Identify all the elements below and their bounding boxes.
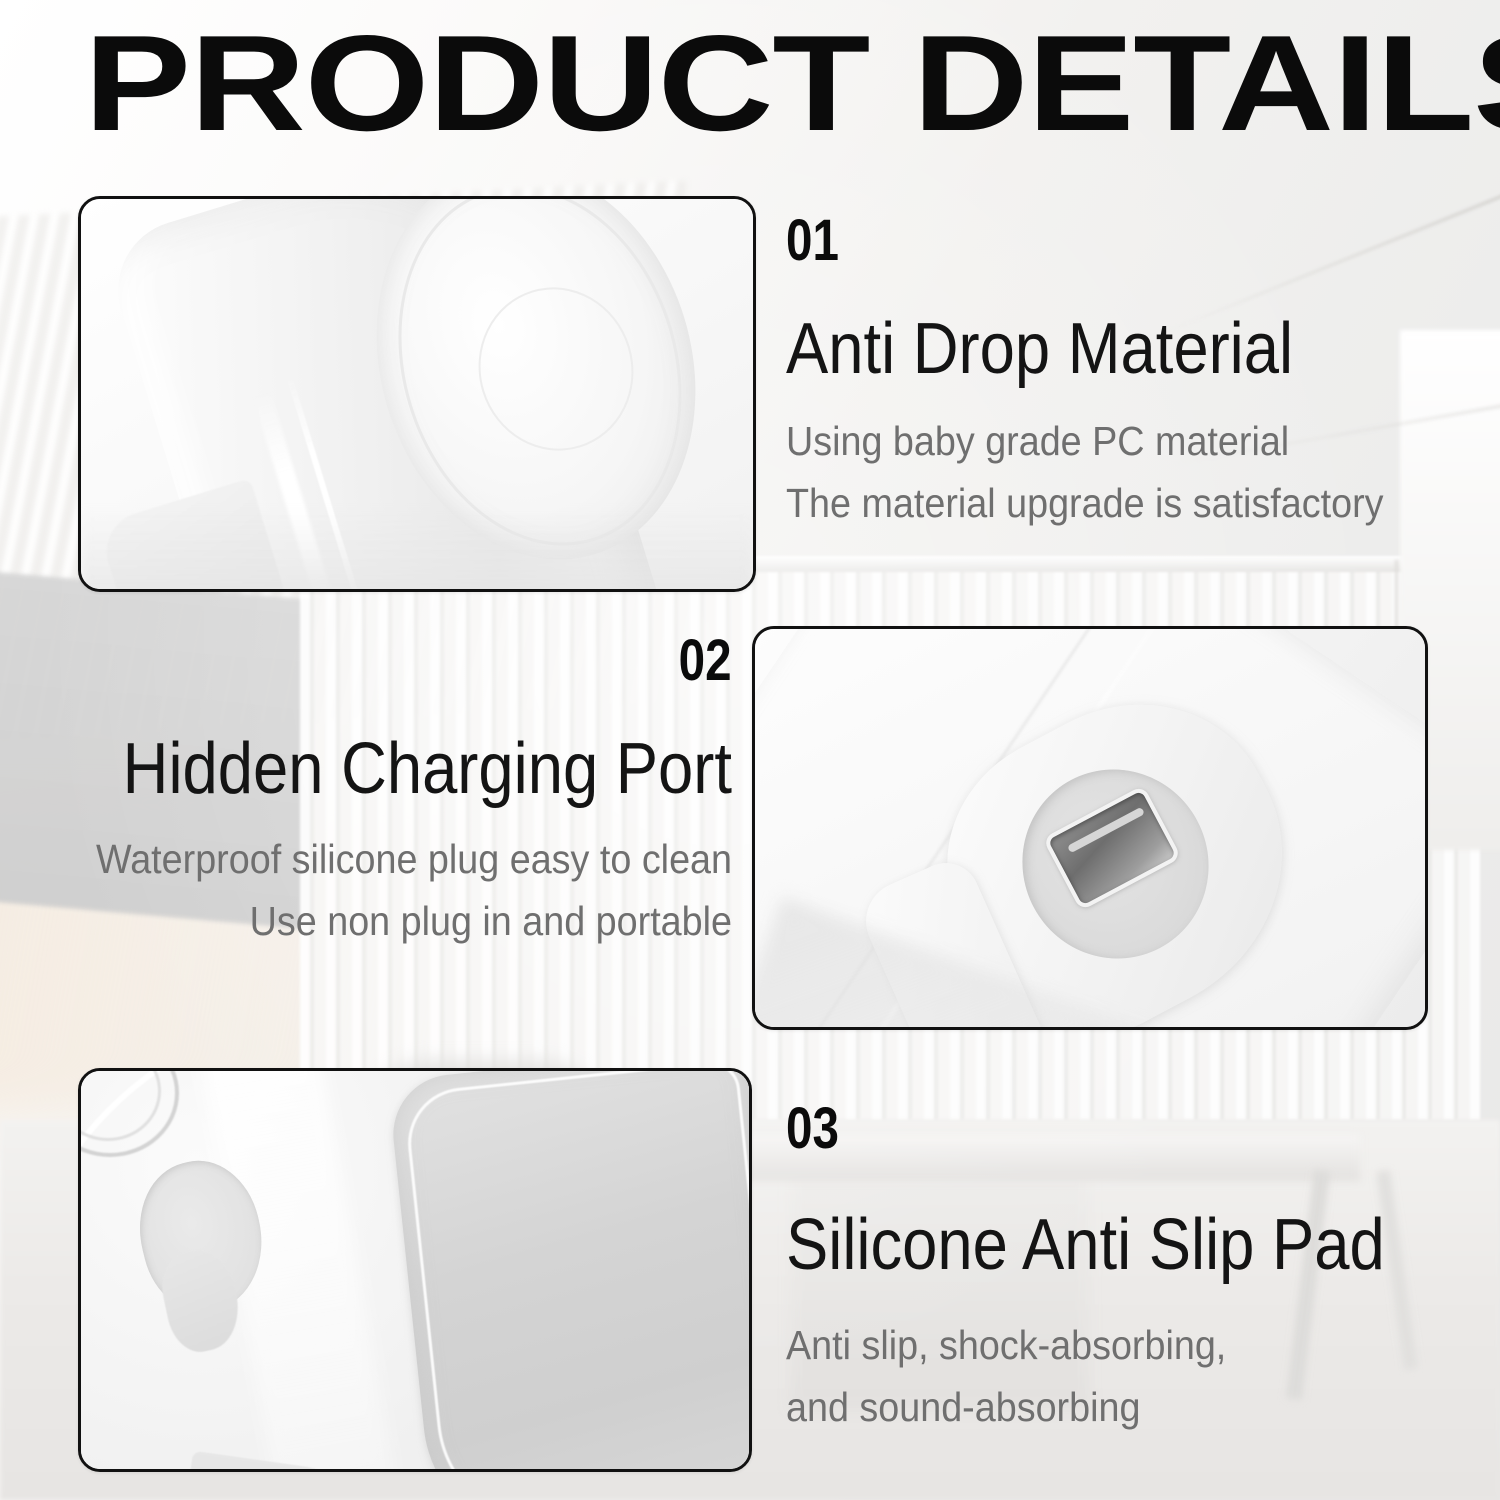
feature-text-block-3: 03 Silicone Anti Slip Pad Anti slip, sho… <box>786 1100 1486 1438</box>
feature-image-panel-1 <box>78 196 756 592</box>
feature-number-3: 03 <box>786 1100 1360 1158</box>
feature-text-block-2: 02 Hidden Charging Port Waterproof silic… <box>0 632 732 952</box>
feature-body-1: Using baby grade PC material The materia… <box>786 410 1486 534</box>
feature-heading-3: Silicone Anti Slip Pad <box>786 1206 1402 1284</box>
feature-body-3: Anti slip, shock-absorbing, and sound-ab… <box>786 1314 1486 1438</box>
feature-number-2: 02 <box>679 632 732 690</box>
feature-text-block-1: 01 Anti Drop Material Using baby grade P… <box>786 212 1486 534</box>
feature-heading-2: Hidden Charging Port <box>88 730 732 808</box>
feature-image-2 <box>755 629 1425 1027</box>
feature-body-line: Using baby grade PC material <box>786 410 1430 472</box>
feature-heading-1: Anti Drop Material <box>786 310 1402 388</box>
feature-body-line: Anti slip, shock-absorbing, <box>786 1314 1430 1376</box>
product-details-infographic: PRODUCT DETAILS <box>0 0 1500 1500</box>
feature-body-2: Waterproof silicone plug easy to clean U… <box>0 828 732 952</box>
panel3-pad-edge-highlight <box>403 1071 749 1469</box>
panel1-contact-shadow <box>81 509 753 589</box>
feature-image-3 <box>81 1071 749 1469</box>
feature-body-line: Use non plug in and portable <box>59 890 732 952</box>
feature-number-1: 01 <box>786 212 1360 270</box>
feature-image-panel-2 <box>752 626 1428 1030</box>
feature-body-line: The material upgrade is satisfactory <box>786 472 1430 534</box>
feature-body-line: and sound-absorbing <box>786 1376 1430 1438</box>
feature-body-line: Waterproof silicone plug easy to clean <box>59 828 732 890</box>
page-title: PRODUCT DETAILS <box>84 8 1500 158</box>
feature-image-panel-3 <box>78 1068 752 1472</box>
feature-image-1 <box>81 199 753 589</box>
